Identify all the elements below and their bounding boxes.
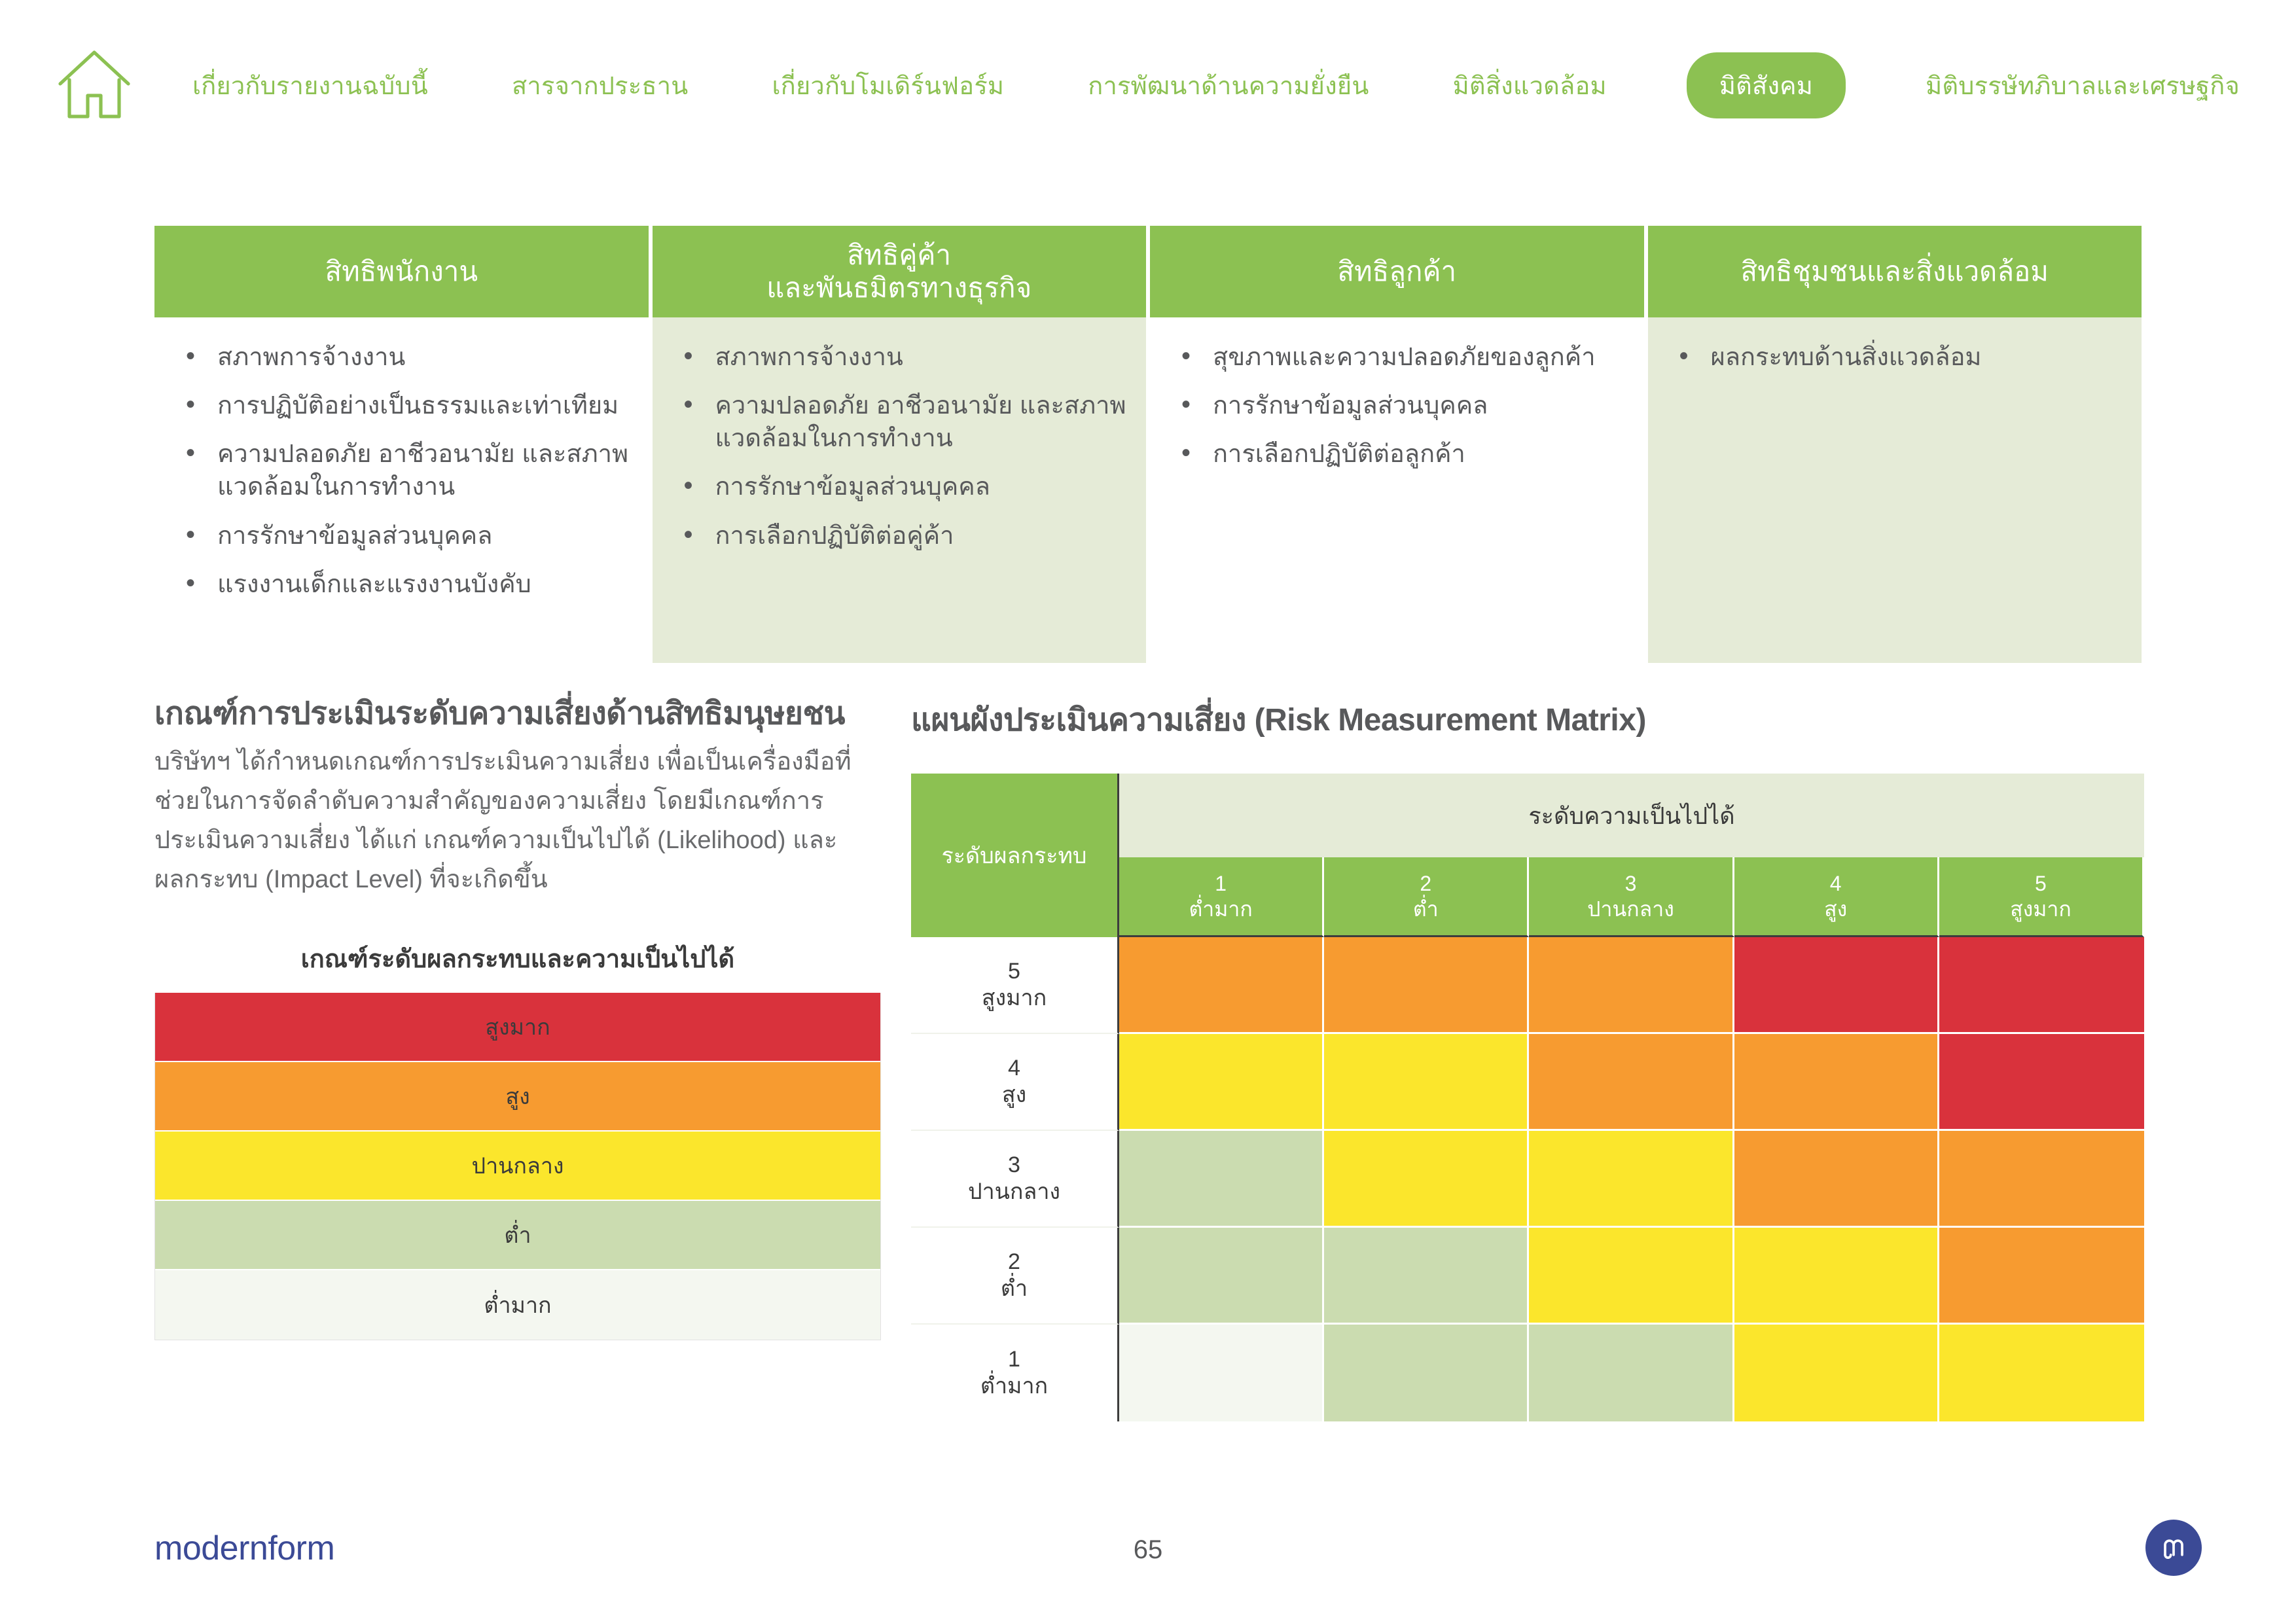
matrix-cell-r2c5 bbox=[1939, 1228, 2144, 1325]
matrix-cell-r2c2 bbox=[1324, 1228, 1529, 1325]
list-item: ความปลอดภัย อาชีวอนามัย และสภาพแวดล้อมใน… bbox=[177, 438, 629, 503]
list-item: การรักษาข้อมูลส่วนบุคคล bbox=[177, 520, 629, 552]
top-navigation: เกี่ยวกับรายงานฉบับนี้ สารจากประธาน เกี่… bbox=[0, 0, 2296, 170]
col-label: ต่ำมาก bbox=[1189, 897, 1253, 921]
row-number: 4 bbox=[1008, 1055, 1020, 1082]
matrix-rowhead-3: 3 ปานกลาง bbox=[911, 1131, 1119, 1228]
nav-item-environment[interactable]: มิติสิ่งแวดล้อม bbox=[1449, 63, 1611, 108]
page-number: 65 bbox=[0, 1535, 2296, 1565]
legend-row-high: สูง bbox=[155, 1062, 880, 1132]
matrix-cell-r1c1 bbox=[1119, 1325, 1324, 1421]
nav-item-sustainability[interactable]: การพัฒนาด้านความยั่งยืน bbox=[1084, 63, 1372, 108]
nav-item-social[interactable]: มิติสังคม bbox=[1687, 52, 1846, 118]
page-footer: modernform 65 bbox=[0, 1492, 2296, 1623]
row-label: สูงมาก bbox=[982, 985, 1047, 1012]
matrix-colhead-2: 2 ต่ำ bbox=[1324, 857, 1529, 937]
col-label: ต่ำ bbox=[1413, 897, 1439, 921]
criteria-title: เกณฑ์การประเมินระดับความเสี่ยงด้านสิทธิม… bbox=[154, 695, 881, 733]
list-item: การรักษาข้อมูลส่วนบุคคล bbox=[675, 471, 1127, 503]
col-label: ปานกลาง bbox=[1587, 897, 1674, 921]
matrix-cell-r3c3 bbox=[1529, 1131, 1734, 1228]
list-item: การรักษาข้อมูลส่วนบุคคล bbox=[1172, 389, 1624, 422]
home-icon[interactable] bbox=[52, 43, 136, 127]
matrix-cell-r5c1 bbox=[1119, 937, 1324, 1034]
rights-list-community: ผลกระทบด้านสิ่งแวดล้อม bbox=[1670, 341, 2123, 374]
rights-col-body-community: ผลกระทบด้านสิ่งแวดล้อม bbox=[1648, 317, 2142, 663]
row-label: ต่ำมาก bbox=[980, 1373, 1048, 1400]
row-number: 2 bbox=[1008, 1249, 1020, 1275]
modernform-m-logo-icon bbox=[2145, 1520, 2202, 1576]
matrix-colhead-1: 1 ต่ำมาก bbox=[1119, 857, 1324, 937]
rights-col-header-community: สิทธิชุมชนและสิ่งแวดล้อม bbox=[1648, 226, 2142, 317]
matrix-cell-r1c5 bbox=[1939, 1325, 2144, 1421]
matrix-cell-r5c2 bbox=[1324, 937, 1529, 1034]
rights-col-header-customer: สิทธิลูกค้า bbox=[1150, 226, 1644, 317]
matrix-cell-r4c4 bbox=[1734, 1034, 1939, 1131]
matrix-cell-r4c2 bbox=[1324, 1034, 1529, 1131]
row-label: ต่ำ bbox=[1001, 1275, 1028, 1302]
matrix-impact-axis-label: ระดับผลกระทบ bbox=[911, 774, 1119, 937]
nav-item-list: เกี่ยวกับรายงานฉบับนี้ สารจากประธาน เกี่… bbox=[143, 52, 2250, 118]
matrix-cell-r4c5 bbox=[1939, 1034, 2144, 1131]
row-number: 1 bbox=[1008, 1346, 1020, 1373]
matrix-cell-r2c1 bbox=[1119, 1228, 1324, 1325]
matrix-cell-r2c3 bbox=[1529, 1228, 1734, 1325]
matrix-likelihood-axis-label: ระดับความเป็นไปได้ bbox=[1119, 774, 2144, 857]
col-number: 2 bbox=[1420, 871, 1431, 896]
matrix-cell-r3c4 bbox=[1734, 1131, 1939, 1228]
risk-matrix-section: แผนผังประเมินความเสี่ยง (Risk Measuremen… bbox=[911, 695, 2144, 1421]
matrix-rowhead-2: 2 ต่ำ bbox=[911, 1228, 1119, 1325]
list-item: สภาพการจ้างงาน bbox=[675, 341, 1127, 374]
legend-row-low: ต่ำ bbox=[155, 1201, 880, 1270]
col-label: สูง bbox=[1824, 897, 1847, 921]
matrix-cell-r1c4 bbox=[1734, 1325, 1939, 1421]
matrix-cell-r5c4 bbox=[1734, 937, 1939, 1034]
rights-list-partner: สภาพการจ้างงาน ความปลอดภัย อาชีวอนามัย แ… bbox=[675, 341, 1127, 552]
matrix-cell-r5c5 bbox=[1939, 937, 2144, 1034]
list-item: สภาพการจ้างงาน bbox=[177, 341, 629, 374]
risk-level-legend: สูงมาก สูง ปานกลาง ต่ำ ต่ำมาก bbox=[154, 993, 881, 1340]
list-item: การเลือกปฏิบัติต่อคู่ค้า bbox=[675, 520, 1127, 552]
matrix-rowhead-1: 1 ต่ำมาก bbox=[911, 1325, 1119, 1421]
legend-row-very-low: ต่ำมาก bbox=[155, 1270, 880, 1340]
rights-list-employee: สภาพการจ้างงาน การปฏิบัติอย่างเป็นธรรมแล… bbox=[177, 341, 629, 601]
rights-col-body-partner: สภาพการจ้างงาน ความปลอดภัย อาชีวอนามัย แ… bbox=[653, 317, 1147, 663]
header-text-line2: และพันธมิตรทางธุรกิจ bbox=[766, 272, 1031, 304]
nav-item-about-modernform[interactable]: เกี่ยวกับโมเดิร์นฟอร์ม bbox=[768, 63, 1009, 108]
rights-col-body-employee: สภาพการจ้างงาน การปฏิบัติอย่างเป็นธรรมแล… bbox=[154, 317, 649, 663]
matrix-colhead-5: 5 สูงมาก bbox=[1939, 857, 2144, 937]
list-item: แรงงานเด็กและแรงงานบังคับ bbox=[177, 568, 629, 601]
matrix-cell-r1c3 bbox=[1529, 1325, 1734, 1421]
legend-title: เกณฑ์ระดับผลกระทบและความเป็นไปได้ bbox=[154, 938, 881, 978]
row-number: 3 bbox=[1008, 1152, 1020, 1179]
matrix-cell-r4c3 bbox=[1529, 1034, 1734, 1131]
nav-item-chairman-message[interactable]: สารจากประธาน bbox=[508, 63, 692, 108]
rights-col-body-customer: สุขภาพและความปลอดภัยของลูกค้า การรักษาข้… bbox=[1150, 317, 1644, 663]
list-item: ความปลอดภัย อาชีวอนามัย และสภาพแวดล้อมใน… bbox=[675, 389, 1127, 455]
rights-col-header-partner: สิทธิคู่ค้า และพันธมิตรทางธุรกิจ bbox=[653, 226, 1147, 317]
rights-col-header-employee: สิทธิพนักงาน bbox=[154, 226, 649, 317]
legend-row-medium: ปานกลาง bbox=[155, 1132, 880, 1201]
criteria-section: เกณฑ์การประเมินระดับความเสี่ยงด้านสิทธิม… bbox=[154, 695, 881, 1340]
matrix-cell-r1c2 bbox=[1324, 1325, 1529, 1421]
matrix-cell-r5c3 bbox=[1529, 937, 1734, 1034]
matrix-colhead-4: 4 สูง bbox=[1734, 857, 1939, 937]
matrix-cell-r3c2 bbox=[1324, 1131, 1529, 1228]
nav-item-governance-economy[interactable]: มิติบรรษัทภิบาลและเศรษฐกิจ bbox=[1922, 63, 2244, 108]
row-label: สูง bbox=[1002, 1082, 1026, 1109]
risk-measurement-matrix: ระดับผลกระทบ ระดับความเป็นไปได้ 1 ต่ำมาก… bbox=[911, 774, 2144, 1421]
header-text: สิทธิชุมชนและสิ่งแวดล้อม bbox=[1741, 255, 2049, 288]
legend-row-very-high: สูงมาก bbox=[155, 993, 880, 1062]
list-item: สุขภาพและความปลอดภัยของลูกค้า bbox=[1172, 341, 1624, 374]
header-text: สิทธิพนักงาน bbox=[325, 255, 478, 288]
header-text: สิทธิลูกค้า bbox=[1337, 255, 1456, 288]
header-text-line1: สิทธิคู่ค้า bbox=[766, 239, 1031, 272]
rights-table: สิทธิพนักงาน สิทธิคู่ค้า และพันธมิตรทางธ… bbox=[154, 226, 2142, 663]
page-root: เกี่ยวกับรายงานฉบับนี้ สารจากประธาน เกี่… bbox=[0, 0, 2296, 1623]
matrix-rowhead-4: 4 สูง bbox=[911, 1034, 1119, 1131]
criteria-body: บริษัทฯ ได้กำหนดเกณฑ์การประเมินความเสี่ย… bbox=[154, 742, 881, 899]
matrix-cell-r2c4 bbox=[1734, 1228, 1939, 1325]
matrix-cell-r3c1 bbox=[1119, 1131, 1324, 1228]
col-number: 4 bbox=[1830, 871, 1842, 896]
list-item: ผลกระทบด้านสิ่งแวดล้อม bbox=[1670, 341, 2123, 374]
matrix-cell-r3c5 bbox=[1939, 1131, 2144, 1228]
nav-item-about-report[interactable]: เกี่ยวกับรายงานฉบับนี้ bbox=[188, 63, 432, 108]
list-item: การเลือกปฏิบัติต่อลูกค้า bbox=[1172, 438, 1624, 471]
matrix-rowhead-5: 5 สูงมาก bbox=[911, 937, 1119, 1034]
matrix-title: แผนผังประเมินความเสี่ยง (Risk Measuremen… bbox=[911, 695, 2144, 745]
list-item: การปฏิบัติอย่างเป็นธรรมและเท่าเทียม bbox=[177, 389, 629, 422]
col-label: สูงมาก bbox=[2010, 897, 2072, 921]
col-number: 3 bbox=[1625, 871, 1637, 896]
row-label: ปานกลาง bbox=[968, 1179, 1060, 1205]
matrix-cell-r4c1 bbox=[1119, 1034, 1324, 1131]
col-number: 5 bbox=[2035, 871, 2047, 896]
rights-list-customer: สุขภาพและความปลอดภัยของลูกค้า การรักษาข้… bbox=[1172, 341, 1624, 471]
row-number: 5 bbox=[1008, 958, 1020, 985]
matrix-colhead-3: 3 ปานกลาง bbox=[1529, 857, 1734, 937]
col-number: 1 bbox=[1215, 871, 1227, 896]
